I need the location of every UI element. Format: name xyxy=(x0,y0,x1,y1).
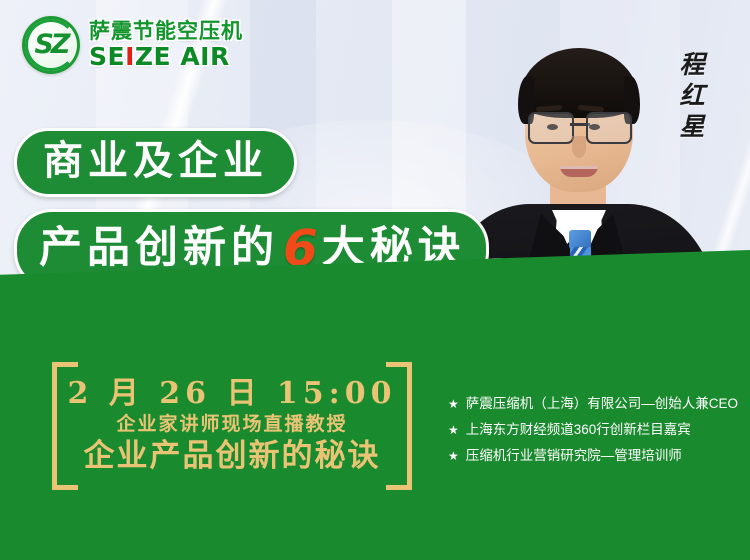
logo-monogram: SZ xyxy=(34,31,67,58)
event-subtitle: 企业家讲师现场直播教授 xyxy=(116,413,347,436)
logo-wordmark: 萨震节能空压机 SEIZE AIR xyxy=(89,21,243,69)
credential-text: 萨震压缩机（上海）有限公司—创始人兼CEO xyxy=(466,396,738,413)
signature-char: 程 xyxy=(679,52,704,77)
headline-line-1: 商业及企业 xyxy=(14,128,297,197)
logo-circle-icon: SZ xyxy=(22,16,80,74)
credential-item: ★ 压缩机行业营销研究院—管理培训师 xyxy=(448,448,740,465)
credential-item: ★ 萨震压缩机（上海）有限公司—创始人兼CEO xyxy=(448,396,740,413)
credential-text: 压缩机行业营销研究院—管理培训师 xyxy=(466,448,682,465)
bracket-right xyxy=(386,362,412,490)
bracket-left xyxy=(52,362,78,490)
speaker-credentials: ★ 萨震压缩机（上海）有限公司—创始人兼CEO ★ 上海东方财经频道360行创新… xyxy=(448,396,740,465)
logo-chinese-name: 萨震节能空压机 xyxy=(89,21,243,43)
logo-en-part1: SE xyxy=(89,42,125,71)
star-bullet-icon: ★ xyxy=(448,396,459,412)
star-bullet-icon: ★ xyxy=(448,422,459,438)
credential-item: ★ 上海东方财经频道360行创新栏目嘉宾 xyxy=(448,422,740,439)
event-datetime: 2 月 26 日 15:00 xyxy=(68,377,397,410)
event-topic: 企业产品创新的秘诀 xyxy=(83,439,380,475)
event-details-block: 2 月 26 日 15:00 企业家讲师现场直播教授 企业产品创新的秘诀 xyxy=(52,362,412,490)
logo-en-part2: ZE AIR xyxy=(135,42,230,71)
promo-banner: SZ 萨震节能空压机 SEIZE AIR xyxy=(0,0,750,560)
star-bullet-icon: ★ xyxy=(448,448,459,464)
logo-english-name: SEIZE AIR xyxy=(89,44,243,69)
headline-line-2-pre: 产品创新的 xyxy=(39,223,279,274)
event-text-group: 2 月 26 日 15:00 企业家讲师现场直播教授 企业产品创新的秘诀 xyxy=(68,377,397,474)
brand-logo: SZ 萨震节能空压机 SEIZE AIR xyxy=(22,16,243,74)
credential-text: 上海东方财经频道360行创新栏目嘉宾 xyxy=(466,422,691,439)
signature-char: 红 xyxy=(679,83,704,108)
logo-en-accent: I xyxy=(125,42,135,71)
speaker-name-signature: 程 红 星 xyxy=(672,52,712,139)
